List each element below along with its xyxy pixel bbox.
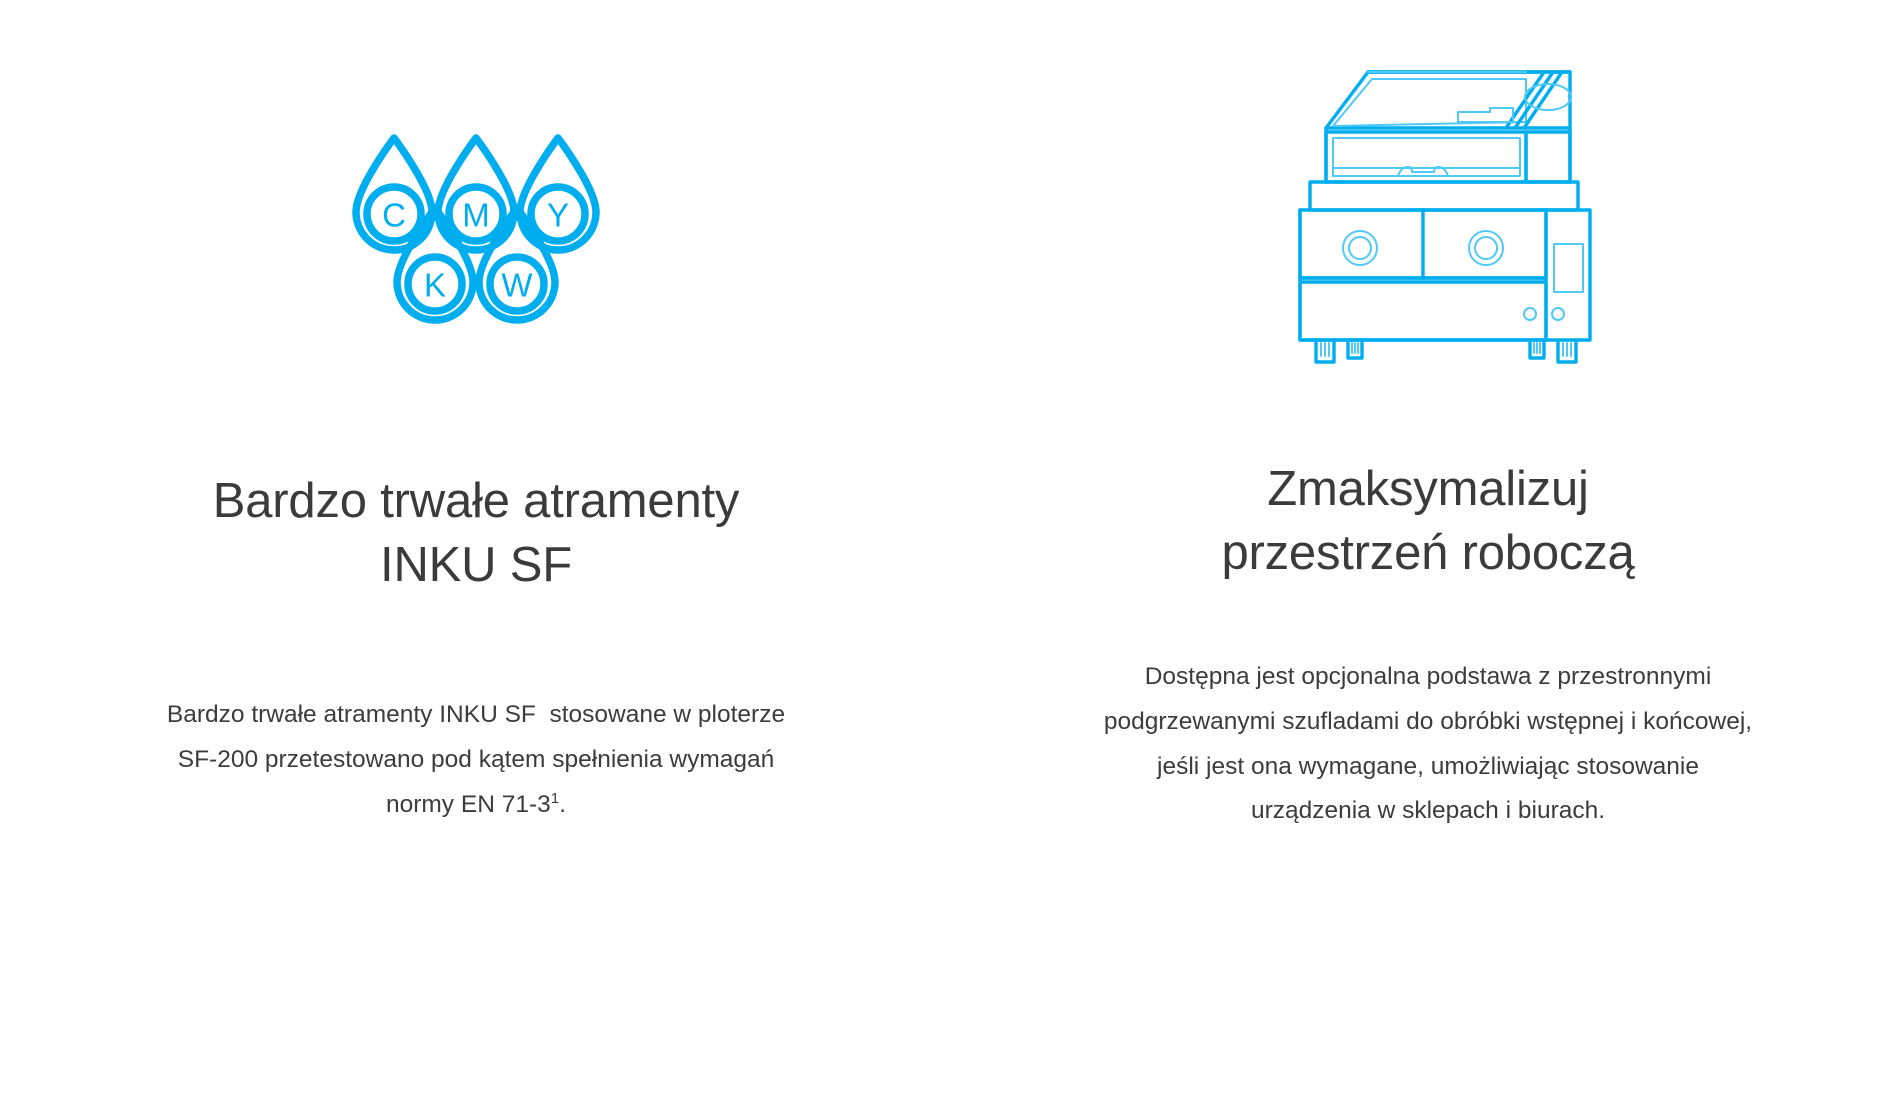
droplet-label-k: K	[424, 267, 446, 304]
workspace-heading-line-2: przestrzeń roboczą	[952, 522, 1904, 586]
cabinet-tower-panel	[1554, 244, 1583, 292]
ink-body-line-3: normy EN 71-31.	[61, 783, 891, 828]
leg-2-ribs	[1352, 343, 1358, 353]
printer-hinge-band-3	[1524, 72, 1562, 128]
droplet-label-m: M	[462, 197, 490, 234]
printer-window-inner	[1333, 138, 1520, 176]
leg-4-ribs	[1563, 343, 1571, 356]
workspace-column: Zmaksymalizuj przestrzeń roboczą Dostępn…	[952, 0, 1904, 1108]
ink-column-heading: Bardzo trwałe atramenty INKU SF	[0, 470, 952, 597]
workspace-column-heading: Zmaksymalizuj przestrzeń roboczą	[952, 458, 1904, 585]
droplet-label-w: W	[501, 267, 533, 304]
ink-heading-line-2: INKU SF	[0, 534, 952, 598]
cabinet-port-right	[1552, 308, 1564, 320]
workspace-heading-line-1: Zmaksymalizuj	[952, 458, 1904, 522]
workspace-body-line-4: urządzenia w sklepach i biurach.	[988, 789, 1868, 834]
ink-body-line-3-period: .	[559, 791, 566, 818]
workspace-body-line-3: jeśli jest ona wymagane, umożliwiając st…	[988, 745, 1868, 790]
footnote-marker: 1	[551, 789, 559, 806]
printer-window-frame	[1326, 132, 1526, 182]
cmykw-ink-droplets-icon: C M Y K W	[0, 0, 952, 420]
workspace-body-line-1: Dostępna jest opcjonalna podstawa z prze…	[988, 655, 1868, 700]
droplets-svg: C M Y K W	[346, 130, 606, 330]
drawer-knob-left-inner	[1349, 237, 1371, 259]
ink-column-body: Bardzo trwałe atramenty INKU SF stosowan…	[61, 693, 891, 827]
printer-svg	[1258, 50, 1598, 380]
leg-1-ribs	[1321, 343, 1329, 356]
printer-lid-inner-panel	[1333, 79, 1526, 126]
ink-body-line-1: Bardzo trwałe atramenty INKU SF stosowan…	[61, 693, 891, 738]
leg-3-ribs	[1534, 343, 1540, 353]
cabinet-lower-face	[1300, 282, 1546, 340]
ink-column: C M Y K W Bardzo trwałe atramenty INKU S…	[0, 0, 952, 1108]
printer-top-dial	[1525, 84, 1571, 110]
droplet-label-c: C	[382, 197, 406, 234]
cabinet-legs	[1316, 340, 1576, 362]
printer-base-band	[1310, 182, 1578, 210]
printer-lid-tray	[1458, 108, 1513, 122]
workspace-body-line-2: podgrzewanymi szufladami do obróbki wstę…	[988, 700, 1868, 745]
feature-comparison-page: C M Y K W Bardzo trwałe atramenty INKU S…	[0, 0, 1904, 1108]
printer-hinge-band-2	[1515, 72, 1553, 128]
drawer-knob-right-inner	[1475, 237, 1497, 259]
printer-plotter-with-cabinet-icon	[952, 0, 1904, 420]
cabinet-port-left	[1524, 308, 1536, 320]
workspace-column-body: Dostępna jest opcjonalna podstawa z prze…	[988, 655, 1868, 833]
ink-heading-line-1: Bardzo trwałe atramenty	[0, 470, 952, 534]
droplet-label-y: Y	[547, 197, 569, 234]
ink-body-line-3-text: normy EN 71-3	[386, 791, 551, 818]
ink-body-line-2: SF-200 przetestowano pod kątem spełnieni…	[61, 738, 891, 783]
printer-side-panel	[1526, 132, 1570, 182]
